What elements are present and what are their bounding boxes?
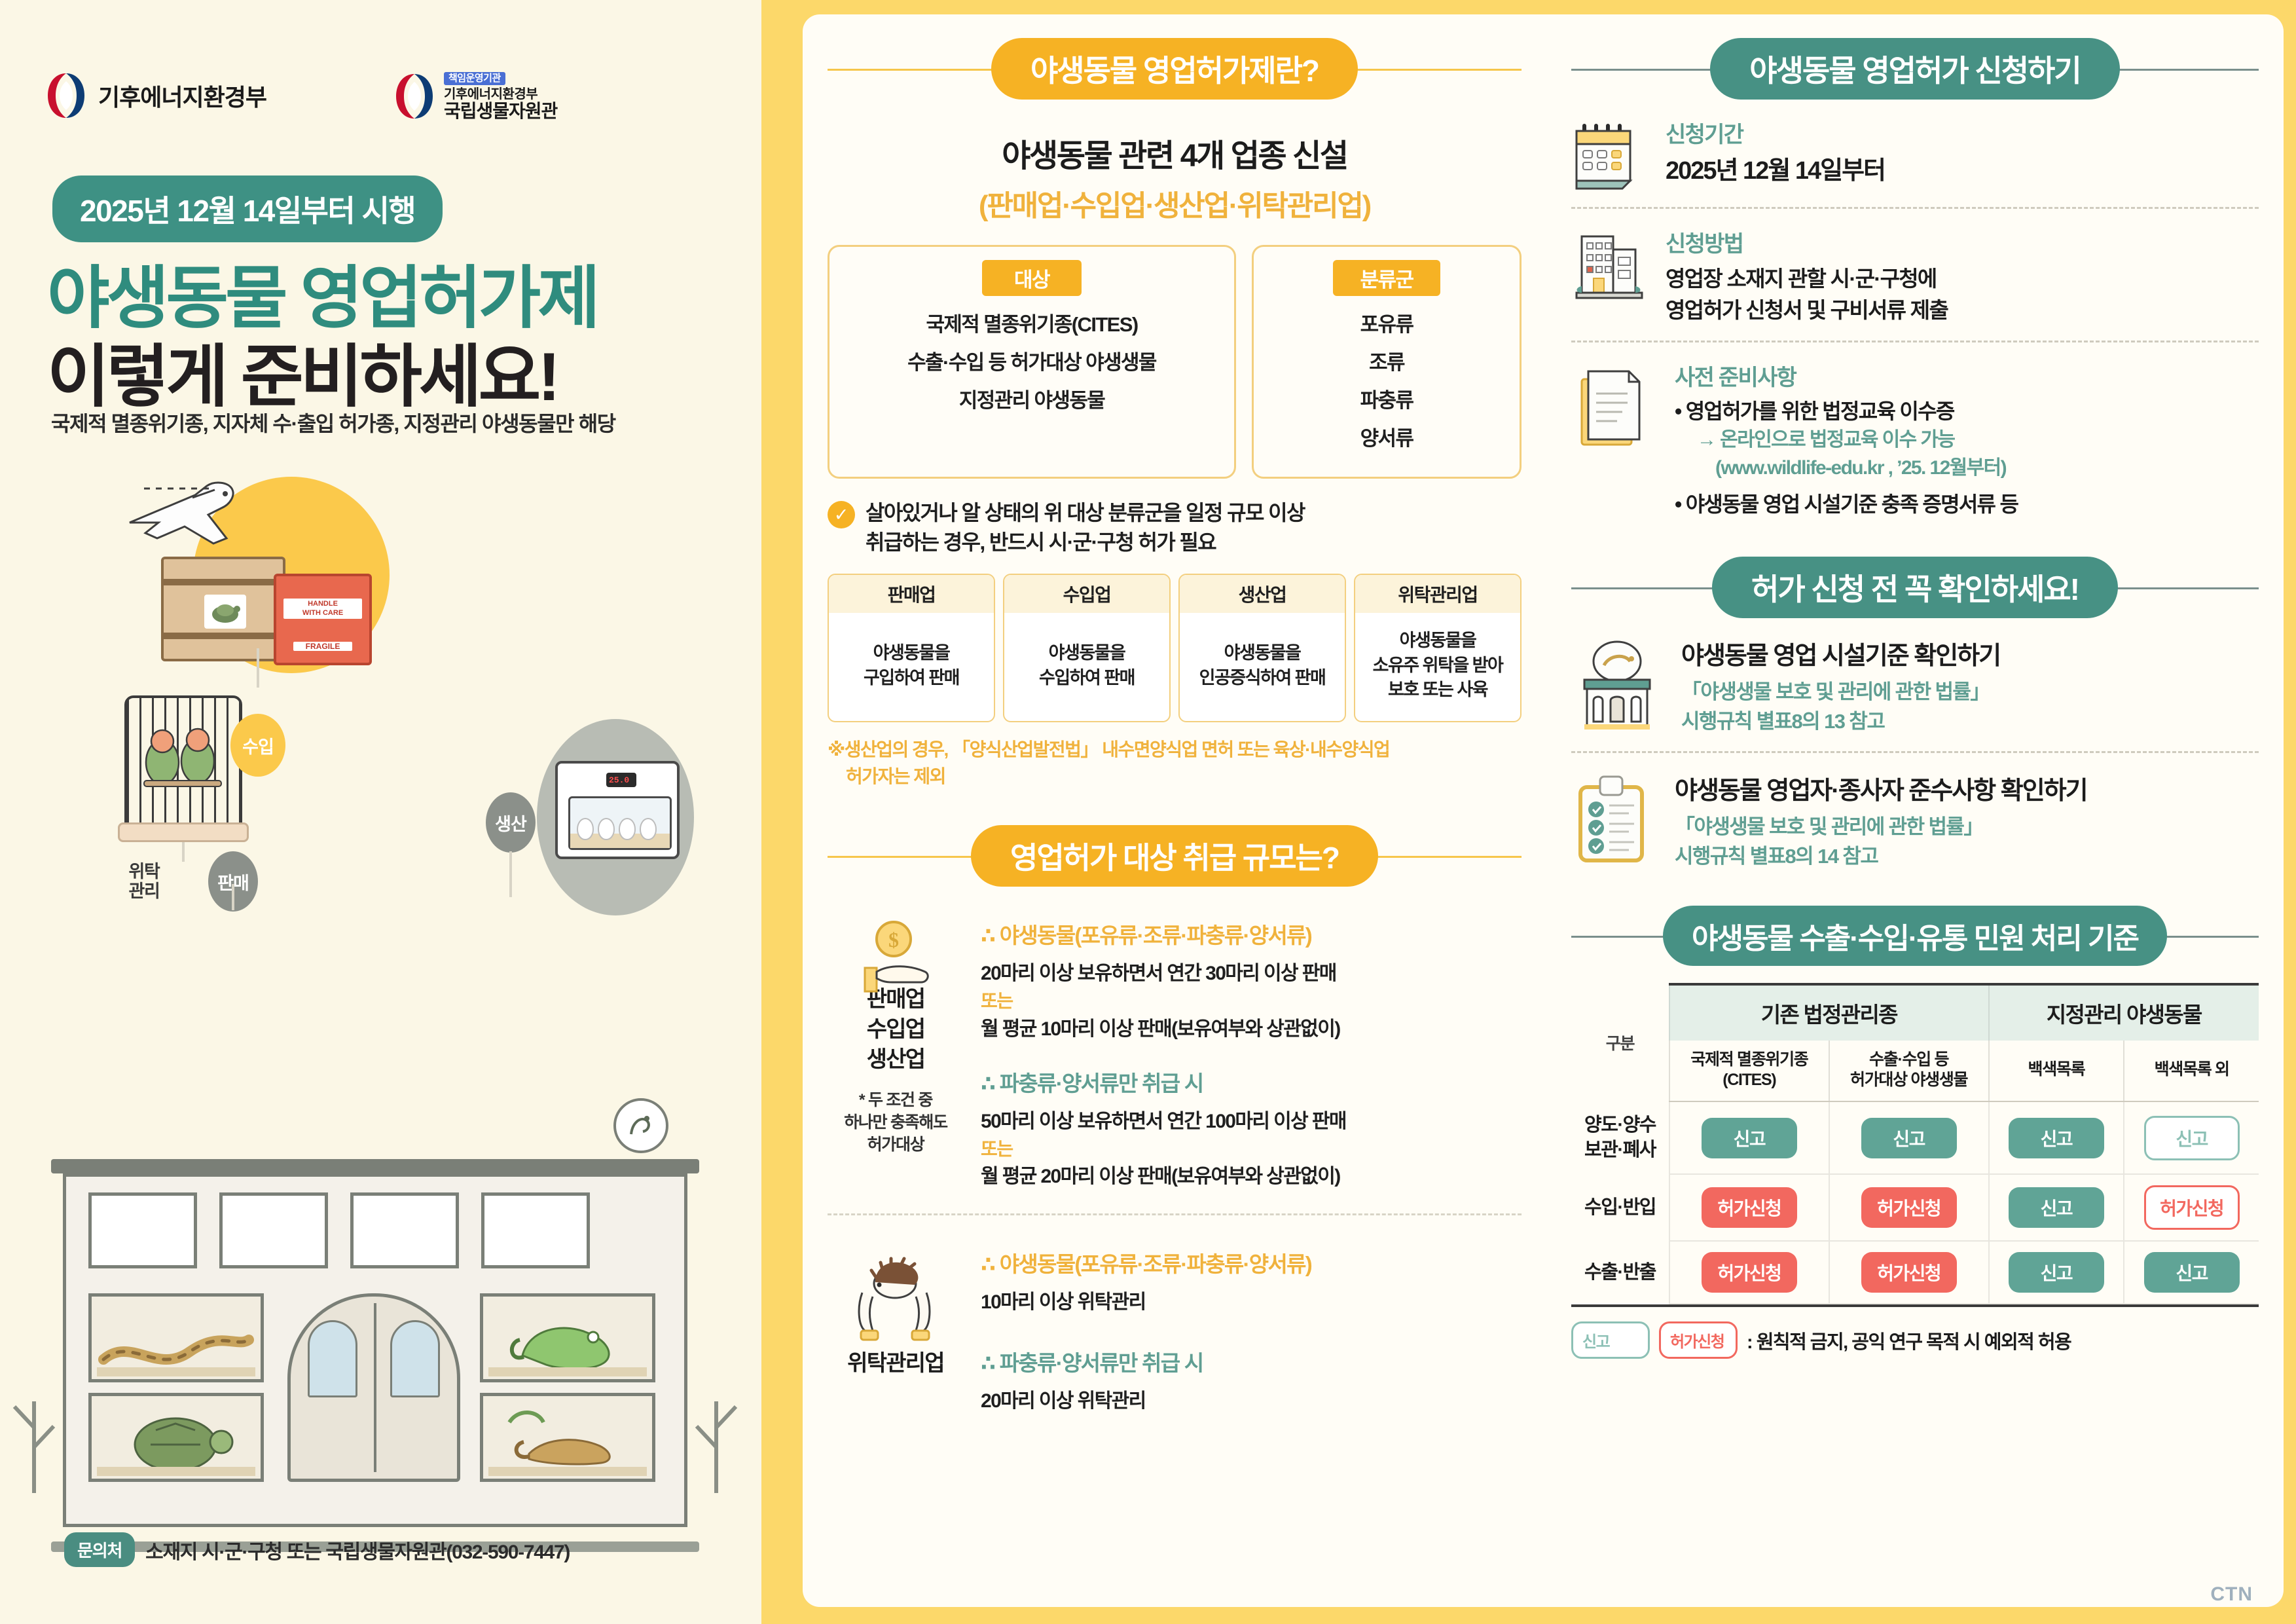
- check-circle-icon: ✓: [828, 501, 855, 528]
- apply-period-value: 2025년 12월 14일부터: [1666, 154, 2259, 189]
- prep-body: 사전 준비사항 • 영업허가를 위한 법정교육 이수증 → 온라인으로 법정교육…: [1675, 360, 2259, 520]
- prep-bullet-2: • 야생동물 영업 시설기준 충족 증명서류 등: [1675, 490, 2259, 519]
- legend-text: : 원칙적 금지, 공익 연구 목적 시 예외적 허용: [1747, 1327, 2071, 1354]
- table-sub-header-3: 백색목록: [1989, 1041, 2124, 1102]
- scale-biz-3: 생산업: [867, 1047, 924, 1072]
- prep-bullet-1: • 영업허가를 위한 법정교육 이수증: [1675, 397, 2259, 426]
- clipboard-checklist-icon: [1571, 770, 1656, 868]
- logo-institute-line1: 기후에너지환경부: [444, 88, 557, 101]
- status-chip: 허가신청: [2144, 1185, 2240, 1230]
- target-line-3: 지정관리 야생동물: [840, 384, 1224, 413]
- table-legend: 신고 허가신청 : 원칙적 금지, 공익 연구 목적 시 예외적 허용: [1571, 1321, 2259, 1359]
- group-box: 분류군 포유류 조류 파충류 양서류: [1252, 245, 1522, 479]
- apply-method-line2: 영업허가 신청서 및 구비서류 제출: [1666, 295, 2259, 326]
- table-sub-header-4: 백색목록 외: [2124, 1041, 2259, 1102]
- illustration-area: HANDLEWITH CARE FRAGILE 수입 25.0: [0, 452, 761, 1486]
- status-chip: 신고: [1861, 1118, 1957, 1158]
- table-cell: 신고: [2124, 1241, 2259, 1304]
- bc2-l1: 야생동물을: [1224, 643, 1301, 663]
- apply-method-line1: 영업장 소재지 관할 시·군·구청에: [1666, 263, 2259, 295]
- check-compliance-body: 야생동물 영업자·종사자 준수사항 확인하기 「야생생물 보호 및 관리에 관한…: [1675, 770, 2259, 872]
- contact-row: 문의처 소재지 시·군·구청 또는 국립생물자원관(032-590-7447): [64, 1532, 570, 1567]
- table-group-header-row: 구분 기존 법정관리종 지정관리 야생동물: [1571, 984, 2259, 1041]
- section-banner-apply-label: 야생동물 영업허가 신청하기: [1710, 38, 2119, 100]
- check-facility-body: 야생동물 영업 시설기준 확인하기 「야생생물 보호 및 관리에 관한 법률」 …: [1681, 635, 2259, 737]
- yellow-divider-strip: [761, 0, 790, 1624]
- section-banner-what-is-label: 야생동물 영업허가제란?: [991, 38, 1358, 100]
- taegeuk-logo-icon-2: [394, 73, 435, 120]
- tree-right-icon: [690, 1356, 742, 1500]
- business-card-body: 야생동물을수입하여 판매: [1004, 613, 1169, 721]
- status-chip: 신고: [2144, 1252, 2240, 1293]
- apply-method-body: 신청방법 영업장 소재지 관할 시·군·구청에 영업허가 신청서 및 구비서류 …: [1666, 226, 2259, 326]
- table-cell: 신고: [2124, 1101, 2259, 1174]
- logo-institute-line2: 국립생물자원관: [444, 101, 557, 120]
- legend-chip-report: 신고: [1571, 1321, 1650, 1359]
- check-compliance-item: 야생동물 영업자·종사자 준수사항 확인하기 「야생생물 보호 및 관리에 관한…: [1571, 753, 2259, 886]
- status-chip: 신고: [2009, 1118, 2104, 1158]
- target-box-tag: 대상: [982, 260, 1082, 296]
- trade-processing-table: 구분 기존 법정관리종 지정관리 야생동물 국제적 멸종위기종(CITES) 수…: [1571, 983, 2259, 1305]
- target-line-1: 국제적 멸종위기종(CITES): [840, 308, 1224, 337]
- pet-shop-illustration: [51, 1159, 699, 1552]
- check-compliance-line2: 시행규칙 별표8의 14 참고: [1675, 842, 2259, 872]
- check-compliance-line1: 「야생생물 보호 및 관리에 관한 법률」: [1675, 813, 2259, 842]
- scale-note: * 두 조건 중 하나만 충족해도 허가대상: [828, 1090, 964, 1156]
- permit-required-text: 살아있거나 알 상태의 위 대상 분류군을 일정 규모 이상 취급하는 경우, …: [866, 498, 1305, 558]
- new-business-subheading: (판매업·수입업·생산업·위탁관리업): [828, 182, 1522, 224]
- scale-icon-column: 위탁관리업: [828, 1247, 964, 1379]
- apply-method-item: 신청방법 영업장 소재지 관할 시·군·구청에 영업허가 신청서 및 구비서류 …: [1571, 209, 2259, 341]
- calendar-icon: [1571, 117, 1647, 193]
- table-corner-label: 구분: [1571, 984, 1669, 1102]
- table-cell: 허가신청: [1829, 1241, 1989, 1304]
- bc1-l2: 수입하여 판매: [1039, 668, 1135, 688]
- prep-bullet-1-sub2: (www.wildlife-edu.kr , ’25. 12월부터): [1675, 454, 2259, 483]
- business-card: 위탁관리업 야생동물을소유주 위탁을 받아보호 또는 사육: [1354, 574, 1522, 722]
- business-card-header: 생산업: [1180, 575, 1345, 613]
- table-cell: 신고: [1989, 1174, 2124, 1241]
- contact-badge: 문의처: [64, 1532, 135, 1567]
- taegeuk-logo-icon: [46, 72, 86, 119]
- footnote-line1: ※생산업의 경우, 「양식산업발전법」 내수면양식업 면허 또는 육상·내수양식…: [828, 739, 1389, 760]
- scale-icon-column: $ 판매업 수입업 생산업 * 두 조건 중 하나만 충족해도 허가대상: [828, 918, 964, 1156]
- group-line-2: 조류: [1264, 346, 1509, 375]
- table-cell: 허가신청: [1829, 1174, 1989, 1241]
- effective-date-pill: 2025년 12월 14일부터 시행: [52, 175, 443, 242]
- scale-body: ∴ 야생동물(포유류·조류·파충류·양서류) 20마리 이상 보유하면서 연간 …: [981, 918, 1522, 1190]
- watermark: CTN: [2210, 1583, 2253, 1606]
- table-sub-header-row: 국제적 멸종위기종(CITES) 수출·수입 등허가대상 야생생물 백색목록 백…: [1571, 1041, 2259, 1102]
- egg-incubator: 25.0: [555, 761, 680, 859]
- table-bottom-rule: [1571, 1304, 2259, 1307]
- table-group-header-1: 기존 법정관리종: [1669, 984, 1989, 1041]
- production-footnote: ※생산업의 경우, 「양식산업발전법」 내수면양식업 면허 또는 육상·내수양식…: [828, 737, 1522, 790]
- apply-period-label: 신청기간: [1666, 117, 2259, 149]
- business-card-body: 야생동물을인공증식하여 판매: [1180, 613, 1345, 721]
- tag-consign-label: 위탁 관리: [98, 862, 190, 901]
- permit-note-line2: 취급하는 경우, 반드시 시·군·구청 허가 필요: [866, 530, 1216, 554]
- bc3-l1: 야생동물을: [1400, 631, 1476, 650]
- section-banner-check-label: 허가 신청 전 꼭 확인하세요!: [1712, 557, 2118, 618]
- scale-note-3: 허가대상: [867, 1135, 924, 1154]
- status-chip: 신고: [1702, 1118, 1797, 1158]
- section-banner-check: 허가 신청 전 꼭 확인하세요!: [1571, 557, 2259, 618]
- scale2-biz-1: 위탁관리업: [847, 1351, 943, 1376]
- scale-biz-2: 수입업: [867, 1017, 924, 1042]
- business-card: 수입업 야생동물을수입하여 판매: [1003, 574, 1171, 722]
- check-facility-line1: 「야생생물 보호 및 관리에 관한 법률」: [1681, 678, 2259, 707]
- permit-note-line1: 살아있거나 알 상태의 위 대상 분류군을 일정 규모 이상: [866, 501, 1305, 525]
- business-card-header: 판매업: [829, 575, 994, 613]
- status-chip: 신고: [2009, 1187, 2104, 1228]
- scale2-block-line1: 20마리 이상 위탁관리: [981, 1386, 1522, 1416]
- responsible-agency-badge: 책임운영기관: [444, 72, 505, 85]
- table-row-label-1: 양도·양수보관·폐사: [1571, 1101, 1669, 1174]
- table-row: 양도·양수보관·폐사 신고 신고 신고 신고: [1571, 1101, 2259, 1174]
- tag-sell: 판매: [208, 851, 258, 912]
- turtle-icon: [92, 1396, 261, 1479]
- headline-subline: 국제적 멸종위기종, 지자체 수·출입 허가종, 지정관리 야생동물만 해당: [51, 407, 615, 437]
- target-group-boxes: 대상 국제적 멸종위기종(CITES) 수출·수입 등 허가대상 야생생물 지정…: [828, 245, 1522, 479]
- business-card-header: 위탁관리업: [1355, 575, 1520, 613]
- fragile-crate: HANDLEWITH CARE FRAGILE: [274, 574, 372, 665]
- tag-production: 생산: [486, 792, 536, 853]
- government-building-icon: [1571, 226, 1647, 302]
- status-chip: 허가신청: [1702, 1252, 1797, 1293]
- scale-note-1: * 두 조건 중: [859, 1091, 932, 1109]
- section-banner-scale-label: 영업허가 대상 취급 규모는?: [971, 825, 1378, 887]
- wooden-crate: [161, 557, 285, 661]
- bc1-l1: 야생동물을: [1049, 643, 1125, 663]
- business-card-body: 야생동물을구입하여 판매: [829, 613, 994, 721]
- table-sub-header-2: 수출·수입 등허가대상 야생생물: [1829, 1041, 1989, 1102]
- bird-cage-base: [118, 822, 249, 842]
- snake-icon: [92, 1297, 261, 1379]
- table-cell: 허가신청: [1669, 1241, 1829, 1304]
- permit-required-note: ✓ 살아있거나 알 상태의 위 대상 분류군을 일정 규모 이상 취급하는 경우…: [828, 498, 1522, 558]
- bc0-l1: 야생동물을: [873, 643, 950, 663]
- section-banner-trade-label: 야생동물 수출·수입·유통 민원 처리 기준: [1663, 906, 2167, 966]
- tree-left-icon: [8, 1356, 60, 1500]
- tag-import: 수입: [230, 714, 285, 777]
- documents-icon: [1571, 360, 1656, 458]
- scale-block-or: 또는: [981, 1136, 1522, 1162]
- status-chip: 허가신청: [1861, 1187, 1957, 1228]
- airplane-icon: [117, 475, 267, 557]
- group-line-3: 파충류: [1264, 384, 1509, 413]
- government-logos: 기후에너지환경부 책임운영기관 기후에너지환경부 국립생물자원관: [46, 72, 557, 120]
- status-chip: 신고: [2009, 1252, 2104, 1293]
- right-column: 야생동물 영업허가 신청하기 신청기간 2025: [1571, 38, 2259, 1359]
- apply-period-item: 신청기간 2025년 12월 14일부터: [1571, 100, 2259, 207]
- scale-divider: [828, 1213, 1522, 1215]
- logo-ministry-label: 기후에너지환경부: [98, 79, 266, 113]
- apply-method-label: 신청방법: [1666, 226, 2259, 258]
- business-card-header: 수입업: [1004, 575, 1169, 613]
- group-line-1: 포유류: [1264, 308, 1509, 337]
- business-card: 생산업 야생동물을인공증식하여 판매: [1178, 574, 1346, 722]
- incubator-window: [568, 796, 672, 850]
- logo-institute: 책임운영기관 기후에너지환경부 국립생물자원관: [394, 72, 557, 120]
- prep-label: 사전 준비사항: [1675, 360, 2259, 392]
- shop-sign-icon: [613, 1098, 668, 1153]
- scale-business-types: 위탁관리업: [828, 1349, 964, 1379]
- table-cell: 신고: [1989, 1241, 2124, 1304]
- table-row-label-2: 수입·반입: [1571, 1174, 1669, 1241]
- shop-building-icon: [1571, 635, 1663, 733]
- table-sub-header-1: 국제적 멸종위기종(CITES): [1669, 1041, 1829, 1102]
- table-cell: 허가신청: [1669, 1174, 1829, 1241]
- scale-body: ∴ 야생동물(포유류·조류·파충류·양서류) 10마리 이상 위탁관리 ∴ 파충…: [981, 1247, 1522, 1416]
- fragile-label: HANDLEWITH CARE: [283, 599, 361, 618]
- scale-block-line1: 50마리 이상 보유하면서 연간 100마리 이상 판매: [981, 1107, 1522, 1136]
- table-row: 수출·반출 허가신청 허가신청 신고 신고: [1571, 1241, 2259, 1304]
- check-facility-line2: 시행규칙 별표8의 13 참고: [1681, 707, 2259, 737]
- lizard-icon: [483, 1396, 652, 1479]
- scale2-block-head: ∴ 야생동물(포유류·조류·파충류·양서류): [981, 1247, 1522, 1278]
- scale-block-line2: 월 평균 10마리 이상 판매(보유여부와 상관없이): [981, 1014, 1522, 1044]
- check-facility-title: 야생동물 영업 시설기준 확인하기: [1681, 635, 2259, 671]
- logo-institute-text: 책임운영기관 기후에너지환경부 국립생물자원관: [444, 72, 557, 120]
- hedgehog-hands-icon: [828, 1247, 964, 1345]
- table-cell: 신고: [1669, 1101, 1829, 1174]
- prep-bullet-1-sub1: → 온라인으로 법정교육 이수 가능: [1675, 426, 2259, 454]
- money-hand-icon: $: [828, 918, 964, 981]
- table-cell: 허가신청: [2124, 1174, 2259, 1241]
- status-chip: 허가신청: [1702, 1187, 1797, 1228]
- bc2-l2: 인공증식하여 판매: [1199, 668, 1326, 688]
- scale2-block-head: ∴ 파충류·양서류만 취급 시: [981, 1346, 1522, 1377]
- business-type-cards: 판매업 야생동물을구입하여 판매 수입업 야생동물을수입하여 판매 생산업 야생…: [828, 574, 1522, 722]
- poster-root: 기후에너지환경부 책임운영기관 기후에너지환경부 국립생물자원관 2025년 1…: [0, 0, 2296, 1624]
- scale-group-consignment: 위탁관리업 ∴ 야생동물(포유류·조류·파충류·양서류) 10마리 이상 위탁관…: [828, 1247, 1522, 1416]
- scale2-block-line1: 10마리 이상 위탁관리: [981, 1287, 1522, 1317]
- status-chip: 허가신청: [1861, 1252, 1957, 1293]
- contact-text: 소재지 시·군·구청 또는 국립생물자원관(032-590-7447): [145, 1536, 570, 1564]
- scale-block-line2: 월 평균 20마리 이상 판매(보유여부와 상관없이): [981, 1162, 1522, 1191]
- new-business-heading: 야생동물 관련 4개 업종 신설: [828, 130, 1522, 175]
- scale-block-head: ∴ 파충류·양서류만 취급 시: [981, 1066, 1522, 1098]
- group-box-tag: 분류군: [1333, 260, 1440, 296]
- legend-chip-permit: 허가신청: [1659, 1321, 1738, 1359]
- table-cell: 신고: [1989, 1101, 2124, 1174]
- table-group-header-2: 지정관리 야생동물: [1989, 984, 2259, 1041]
- business-card-body: 야생동물을소유주 위탁을 받아보호 또는 사육: [1355, 613, 1520, 721]
- left-panel: 기후에너지환경부 책임운영기관 기후에너지환경부 국립생물자원관 2025년 1…: [0, 0, 761, 1624]
- status-chip: 신고: [2144, 1116, 2240, 1160]
- headline-line2: 이렇게 준비하세요!: [47, 321, 557, 420]
- section-banner-apply: 야생동물 영업허가 신청하기: [1571, 38, 2259, 100]
- apply-period-body: 신청기간 2025년 12월 14일부터: [1666, 117, 2259, 189]
- section-banner-what-is: 야생동물 영업허가제란?: [828, 38, 1522, 100]
- scale-block-head: ∴ 야생동물(포유류·조류·파충류·양서류): [981, 918, 1522, 950]
- business-card: 판매업 야생동물을구입하여 판매: [828, 574, 995, 722]
- footnote-line2: 허가자는 제외: [828, 766, 945, 786]
- section-banner-trade: 야생동물 수출·수입·유통 민원 처리 기준: [1571, 906, 2259, 966]
- target-box: 대상 국제적 멸종위기종(CITES) 수출·수입 등 허가대상 야생생물 지정…: [828, 245, 1236, 479]
- check-compliance-title: 야생동물 영업자·종사자 준수사항 확인하기: [1675, 770, 2259, 806]
- check-facility-item: 야생동물 영업 시설기준 확인하기 「야생생물 보호 및 관리에 관한 법률」 …: [1571, 618, 2259, 751]
- table-row: 수입·반입 허가신청 허가신청 신고 허가신청: [1571, 1174, 2259, 1241]
- bc3-l3: 보호 또는 사육: [1388, 680, 1487, 699]
- logo-ministry: 기후에너지환경부: [46, 72, 266, 119]
- lovebirds-icon: [135, 724, 233, 796]
- bc3-l2: 소유주 위탁을 받아: [1373, 655, 1503, 675]
- bc0-l2: 구입하여 판매: [864, 668, 959, 688]
- table-cell: 신고: [1829, 1101, 1989, 1174]
- scale-block-or: 또는: [981, 988, 1522, 1014]
- scale-business-types: 판매업 수입업 생산업: [828, 985, 964, 1075]
- target-line-2: 수출·수입 등 허가대상 야생생물: [840, 346, 1224, 375]
- middle-column: 야생동물 영업허가제란? 야생동물 관련 4개 업종 신설 (판매업·수입업·생…: [828, 38, 1522, 1416]
- scale-note-2: 하나만 충족해도: [844, 1113, 947, 1132]
- scale-block-line1: 20마리 이상 보유하면서 연간 30마리 이상 판매: [981, 959, 1522, 988]
- scale-group-sales: $ 판매업 수입업 생산업 * 두 조건 중 하나만 충족해도 허가대상: [828, 918, 1522, 1190]
- table-row-label-3: 수출·반출: [1571, 1241, 1669, 1304]
- svg-text:$: $: [888, 928, 899, 951]
- section-banner-scale: 영업허가 대상 취급 규모는?: [828, 825, 1522, 887]
- chameleon-icon: [483, 1297, 652, 1379]
- group-line-4: 양서류: [1264, 422, 1509, 451]
- prep-item: 사전 준비사항 • 영업허가를 위한 법정교육 이수증 → 온라인으로 법정교육…: [1571, 342, 2259, 534]
